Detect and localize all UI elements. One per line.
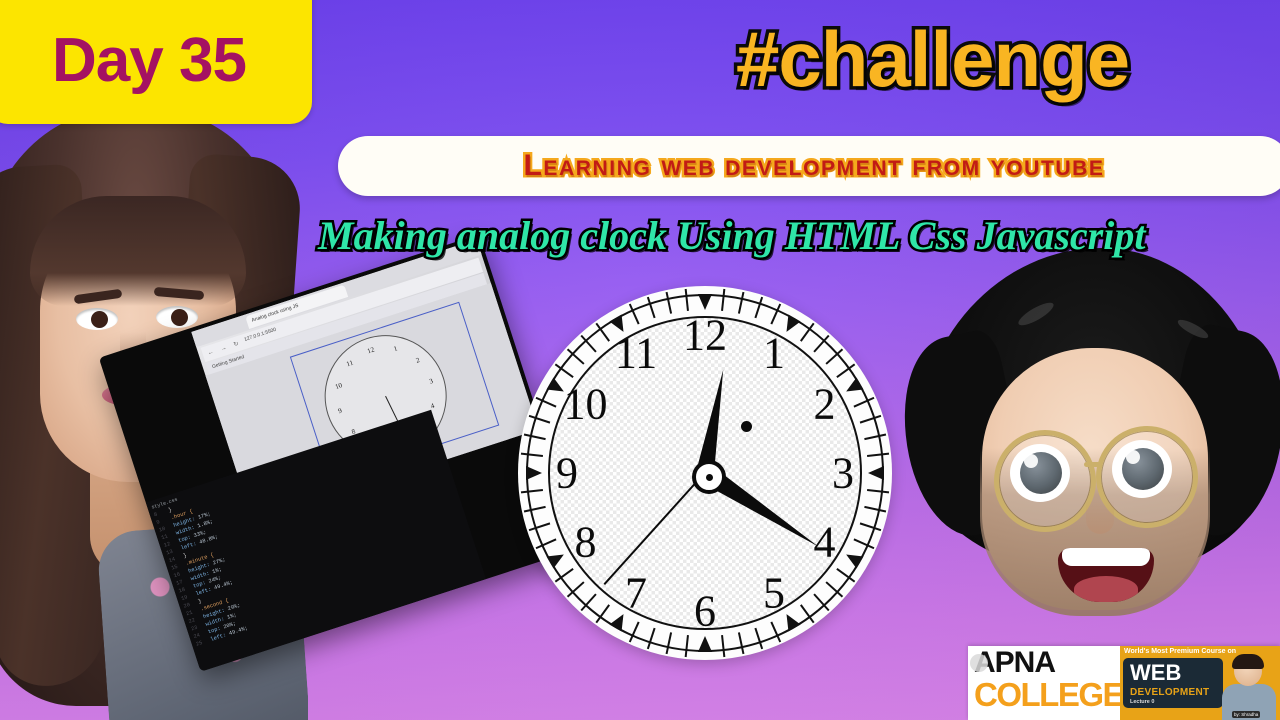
mini-clock-numeral: 2 <box>415 356 421 365</box>
day-badge: Day 35 <box>0 0 312 124</box>
clock-numeral: 3 <box>832 448 854 499</box>
apna-line2: COLLEGE <box>974 678 1120 711</box>
day-badge-label: Day 35 <box>52 16 246 92</box>
apna-college-wordmark: APNA COLLEGE <box>968 646 1120 720</box>
course-presenter: by: Shradha <box>1216 654 1280 720</box>
avatar-nose <box>1086 500 1114 534</box>
clock-numeral: 6 <box>694 586 716 637</box>
clock-numeral: 5 <box>763 567 785 618</box>
course-thumbnail: World's Most Premium Course on WEB DEVEL… <box>1120 646 1280 720</box>
avatar-teeth <box>1062 548 1150 566</box>
presenter-hair <box>1232 654 1264 669</box>
clock-numeral: 12 <box>683 310 727 361</box>
bitmoji-avatar <box>908 248 1280 668</box>
challenge-hashtag: #challenge <box>736 20 1129 98</box>
analog-clock-graphic: 121234567891011 <box>518 286 892 660</box>
mini-clock-numeral: 12 <box>366 346 375 356</box>
presenter-name-tag: by: Shradha <box>1232 711 1260 718</box>
avatar-tongue <box>1074 576 1138 602</box>
clock-tick-major <box>698 636 712 652</box>
eye-left <box>76 308 118 330</box>
headline-banner-label: Learning web development from youtube <box>523 149 1104 183</box>
course-title: WEB <box>1130 662 1181 684</box>
clock-numeral: 10 <box>563 379 607 430</box>
headline-banner: Learning web development from youtube <box>338 136 1280 196</box>
course-subtitle: DEVELOPMENT <box>1130 687 1209 698</box>
pupil-left <box>91 311 108 328</box>
subtitle-text: Making analog clock Using HTML Css Javas… <box>318 212 1280 259</box>
clock-center-cap <box>692 460 726 494</box>
course-title-card: WEB DEVELOPMENT Lecture 0 <box>1123 658 1223 708</box>
apna-badge-icon <box>970 654 988 672</box>
mini-clock-numeral: 1 <box>393 345 399 354</box>
apna-line1: APNA <box>974 648 1120 678</box>
clock-numeral: 2 <box>814 379 836 430</box>
hair-fringe <box>30 196 246 306</box>
clock-numeral: 8 <box>574 517 596 568</box>
clock-tick-major <box>698 294 712 310</box>
eye-right <box>156 306 198 328</box>
apna-college-logo: APNA COLLEGE World's Most Premium Course… <box>968 646 1280 720</box>
glasses-lens-left-icon <box>994 430 1096 532</box>
glasses-bridge <box>1084 462 1100 467</box>
thumbnail-canvas: Analog clock using JS ← → ↻ 127.0.0.1:55… <box>0 0 1280 720</box>
code-editor[interactable]: style.css 8 }9 .hour {10 height: 17%;11 … <box>146 410 486 672</box>
clock-numeral: 1 <box>763 328 785 379</box>
clock-tick-major <box>526 466 542 480</box>
course-lecture: Lecture 0 <box>1130 699 1154 705</box>
clock-numeral: 11 <box>615 328 657 379</box>
clock-numeral: 9 <box>556 448 578 499</box>
pupil-right <box>171 309 188 326</box>
clock-numeral: 7 <box>625 567 647 618</box>
mini-clock-numeral: 3 <box>428 377 434 386</box>
mini-clock-numeral: 9 <box>337 407 343 416</box>
clock-tick-major <box>868 466 884 480</box>
mini-clock-numeral: 10 <box>334 381 343 391</box>
mini-clock-numeral: 11 <box>346 359 355 369</box>
